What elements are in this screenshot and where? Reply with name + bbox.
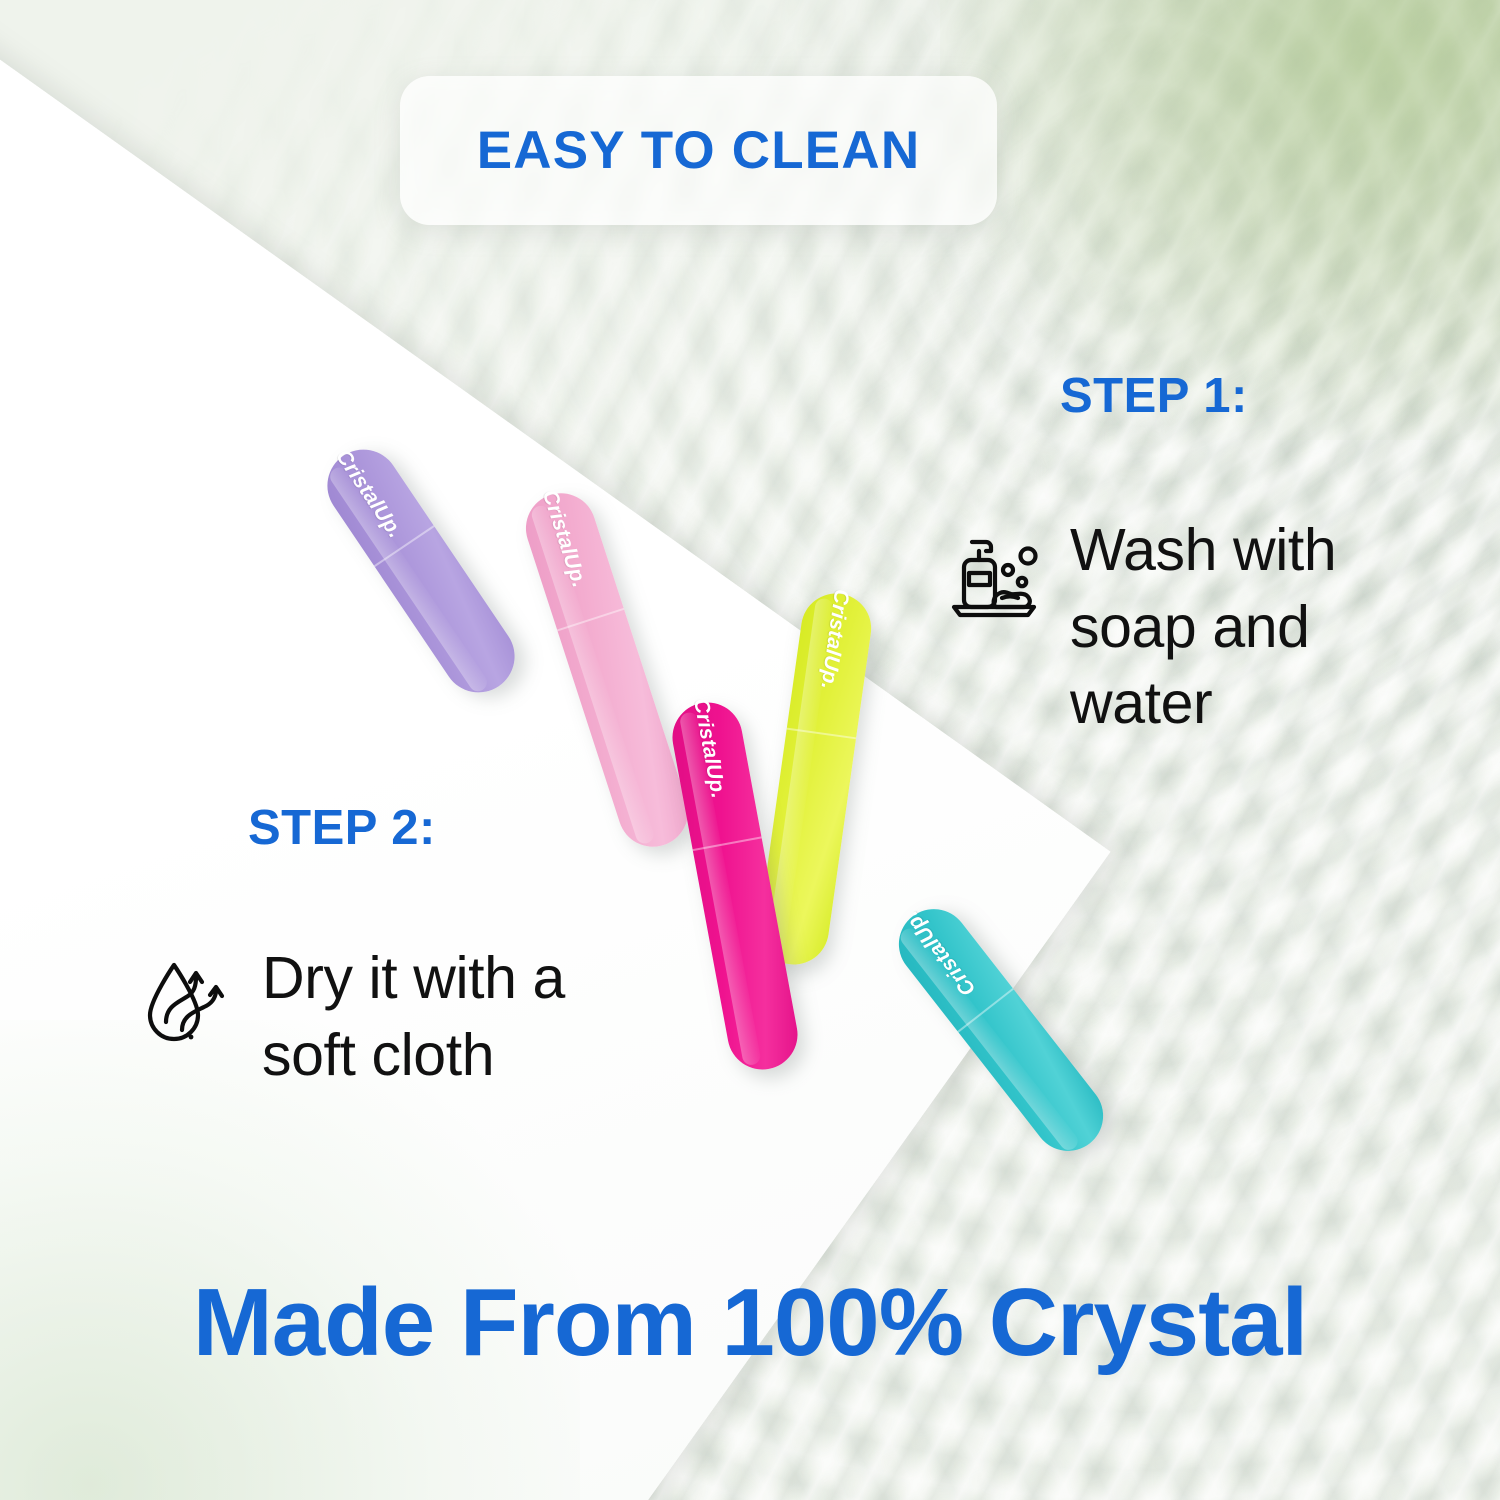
nail-file-seam (787, 728, 857, 740)
banner-title-text: EASY TO CLEAN (477, 120, 921, 181)
nail-file-seam (557, 608, 624, 632)
nail-file-brand-label: CristalUp. (537, 487, 591, 591)
easy-to-clean-banner: EASY TO CLEAN (400, 76, 997, 225)
infographic-canvas: CristalUp. CristalUp. CristalUp. Cristal… (0, 0, 1500, 1500)
headline-emphasis: 100% Crystal (722, 1269, 1308, 1376)
step-2-block: Dry it with a soft cloth (140, 940, 660, 1093)
step-1-block: Wash with soap and water (940, 512, 1420, 742)
step-1-label: STEP 1: (1060, 368, 1248, 424)
step-1-text: Wash with soap and water (1070, 512, 1420, 742)
nail-file-seam (693, 836, 762, 851)
nail-file-brand-label: CristalUp. (688, 696, 730, 800)
headline-prefix: Made From (193, 1269, 722, 1376)
step-2-text: Dry it with a soft cloth (262, 940, 660, 1093)
step-2-label: STEP 2: (248, 800, 436, 856)
nail-file-brand-label: CristalUp. (816, 588, 854, 692)
water-drop-drying-icon (140, 952, 240, 1052)
soap-dispenser-icon (940, 524, 1048, 632)
bottom-headline: Made From 100% Crystal (0, 1268, 1500, 1378)
